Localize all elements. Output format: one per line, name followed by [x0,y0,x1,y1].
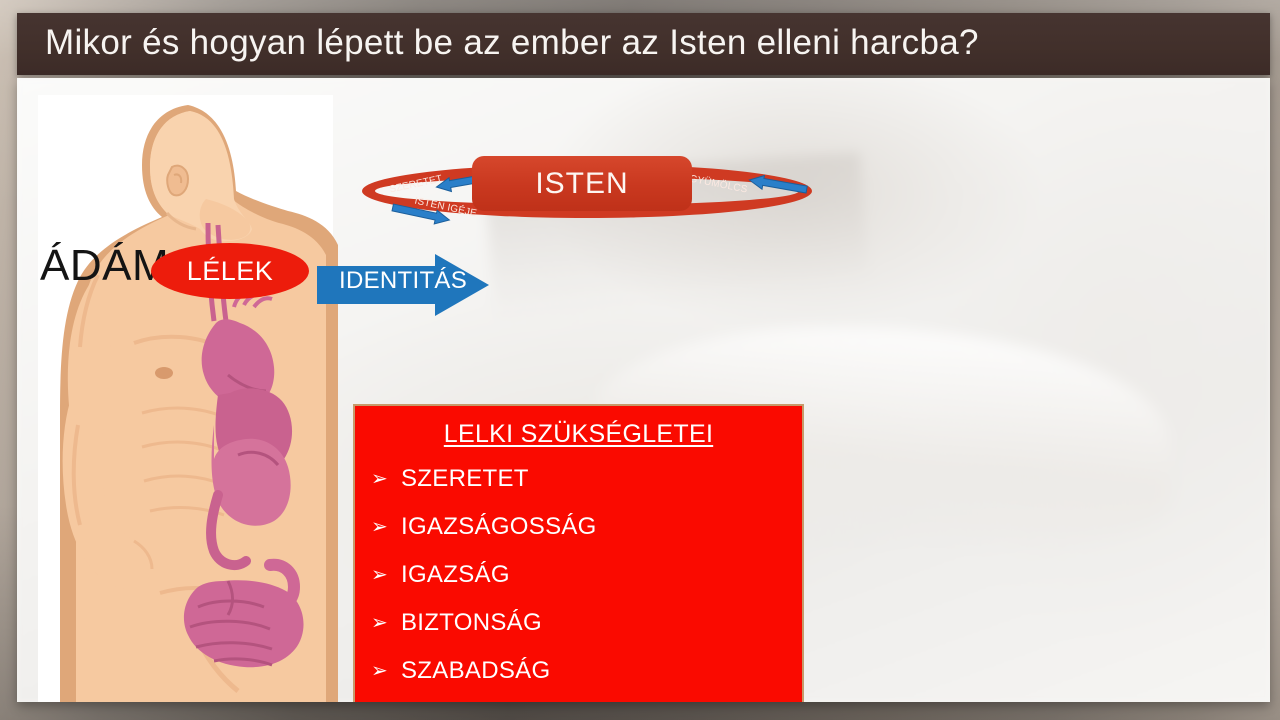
bullet-arrow-icon: ➢ [371,517,401,537]
bullet-arrow-icon: ➢ [371,661,401,681]
identitas-arrow: IDENTITÁS [317,254,489,316]
slide-content-panel: SZERETET ISTEN IGÉJE GYÜMÖLCS ISTEN ÁDÁM… [17,78,1270,702]
bullet-arrow-icon: ➢ [371,613,401,633]
nipple [155,367,173,379]
list-item-label: SZERETET [401,465,529,493]
list-item: ➢ IGAZSÁG [371,551,802,599]
isten-label: ISTEN [535,167,628,201]
list-item: ➢ IGAZSÁGOSSÁG [371,503,802,551]
lelek-ellipse: LÉLEK [151,243,309,299]
list-item-label: IGAZSÁGOSSÁG [401,513,597,541]
human-anatomy-illustration [38,95,338,702]
needs-list: ➢ SZERETET ➢ IGAZSÁGOSSÁG ➢ IGAZSÁG ➢ BI… [355,455,802,702]
list-item: ➢ SZABADSÁG [371,647,802,695]
identitas-label: IDENTITÁS [339,267,467,295]
ear-shape [167,166,188,196]
lelki-szukségletei-box: LELKI SZÜKSÉGLETEI ➢ SZERETET ➢ IGAZSÁGO… [353,404,804,702]
presentation-slide: Mikor és hogyan lépett be az ember az Is… [0,0,1280,720]
list-item-label: BIZTONSÁG [401,609,542,637]
list-item: ➢ SZERETET [371,455,802,503]
bullet-arrow-icon: ➢ [371,565,401,585]
lelek-label: LÉLEK [187,256,274,287]
needs-box-title: LELKI SZÜKSÉGLETEI [355,420,802,449]
list-item-label: SZABADSÁG [401,657,550,685]
list-item: ➢ ÖSSZHANG [371,695,802,702]
bullet-arrow-icon: ➢ [371,469,401,489]
list-item: ➢ BIZTONSÁG [371,599,802,647]
adam-label: ÁDÁM [40,241,169,291]
slide-title-bar: Mikor és hogyan lépett be az ember az Is… [17,13,1270,75]
list-item-label: IGAZSÁG [401,561,510,589]
page-title: Mikor és hogyan lépett be az ember az Is… [45,23,979,63]
isten-ring-diagram: SZERETET ISTEN IGÉJE GYÜMÖLCS ISTEN [362,160,812,222]
isten-box: ISTEN [472,156,692,211]
